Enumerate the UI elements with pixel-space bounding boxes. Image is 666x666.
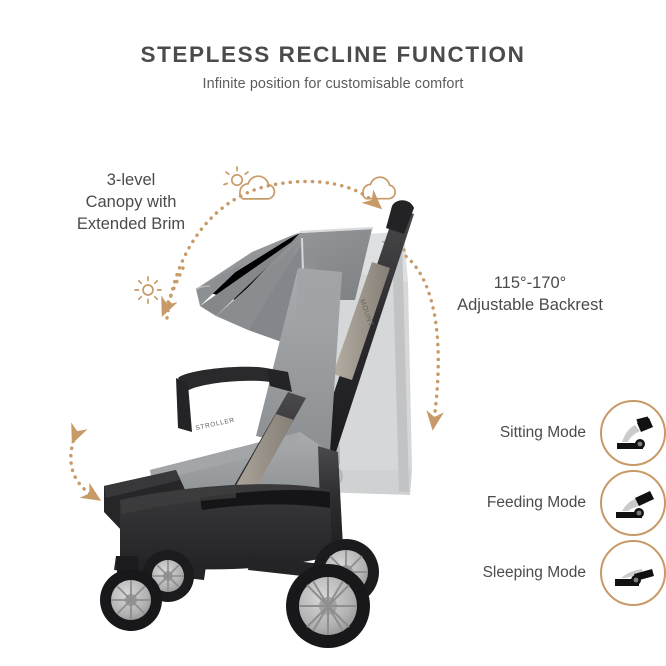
cloud-icon [363, 177, 395, 199]
compact-stroller-side-view: MOUNT [100, 200, 414, 648]
recline-sitting-icon [600, 400, 666, 466]
infographic-page: STEPLESS RECLINE FUNCTION Infinite posit… [0, 0, 666, 666]
recline-feeding-icon [600, 470, 666, 536]
recline-mode-list: Sitting Mode Feeding Mode [432, 398, 666, 608]
canopy-down-arrow-icon [166, 268, 183, 307]
stroller-rear-wheel-front [286, 564, 370, 648]
mode-label-sleeping: Sleeping Mode [483, 564, 586, 582]
mode-row-feeding[interactable]: Feeding Mode [432, 468, 666, 538]
mode-label-feeding: Feeding Mode [487, 494, 586, 512]
mode-row-sitting[interactable]: Sitting Mode [432, 398, 666, 468]
footrest-sweep-arrow-icon [71, 434, 92, 495]
mode-row-sleeping[interactable]: Sleeping Mode [432, 538, 666, 608]
sun-behind-cloud-icon [224, 167, 274, 199]
sun-icon [135, 277, 161, 303]
recline-sleeping-icon [600, 540, 666, 606]
mode-label-sitting: Sitting Mode [500, 424, 586, 442]
seat-logo-mark: STROLLER [195, 417, 236, 432]
